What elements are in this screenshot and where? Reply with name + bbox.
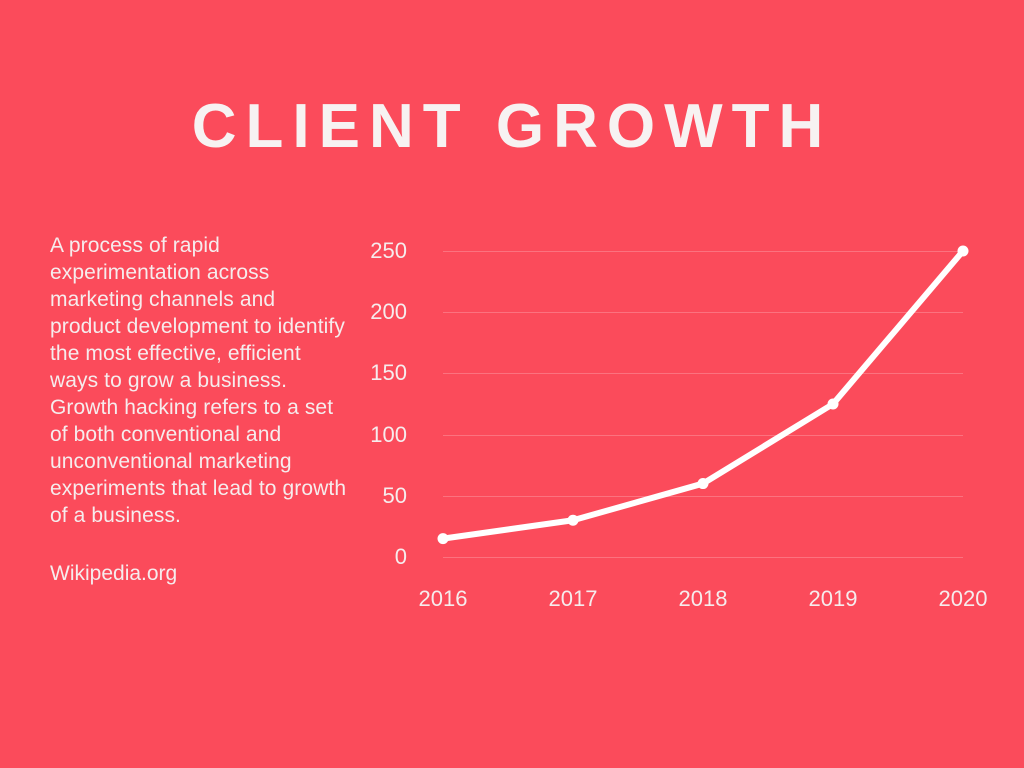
series-data-point — [568, 515, 579, 526]
y-axis-tick-label: 200 — [287, 301, 407, 323]
y-axis-tick-label: 150 — [287, 362, 407, 384]
series-data-point — [438, 533, 449, 544]
y-axis-tick-label: 100 — [287, 424, 407, 446]
x-axis-tick-label: 2020 — [903, 588, 1023, 610]
x-axis-tick-label: 2017 — [513, 588, 633, 610]
series-data-point — [828, 399, 839, 410]
y-axis-tick-label: 0 — [287, 546, 407, 568]
series-data-point — [698, 478, 709, 489]
slide-canvas: CLIENT GROWTH A process of rapid experim… — [0, 0, 1024, 768]
series-data-point — [958, 246, 969, 257]
x-axis-tick-label: 2018 — [643, 588, 763, 610]
client-growth-line-chart: 050100150200250 20162017201820192020 — [370, 230, 990, 600]
chart-line-series — [443, 251, 963, 557]
x-axis-tick-label: 2016 — [383, 588, 503, 610]
series-markers-group — [438, 246, 969, 545]
description-column: A process of rapid experimentation acros… — [50, 232, 350, 587]
y-axis-tick-label: 250 — [287, 240, 407, 262]
series-line-clients — [443, 251, 963, 539]
y-axis-tick-label: 50 — [287, 485, 407, 507]
x-axis-tick-label: 2019 — [773, 588, 893, 610]
gridline — [443, 557, 963, 558]
chart-plot-area: 050100150200250 20162017201820192020 — [443, 251, 963, 557]
page-title: CLIENT GROWTH — [0, 88, 1024, 166]
